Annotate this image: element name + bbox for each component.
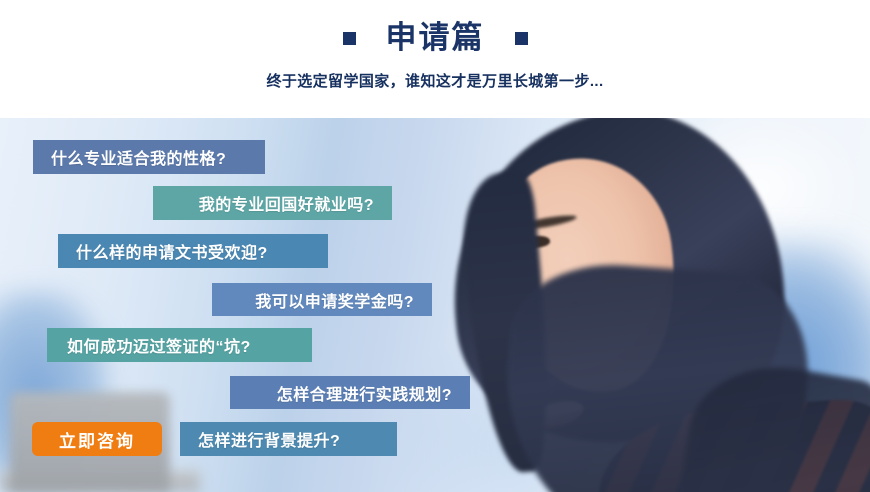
page-title: 申请篇 (386, 20, 485, 56)
square-bullet-right-icon (515, 32, 528, 45)
question-badge-label: 怎样合理进行实践规划? (277, 381, 452, 405)
question-badge[interactable]: 什么专业适合我的性格? (33, 140, 265, 174)
question-badge-label: 什么专业适合我的性格? (51, 145, 226, 169)
question-badge[interactable]: 怎样进行背景提升? (180, 422, 397, 456)
square-bullet-left-icon (343, 32, 356, 45)
hero-section: 什么专业适合我的性格?我的专业回国好就业吗?什么样的申请文书受欢迎?我可以申请奖… (0, 118, 870, 492)
page-subtitle: 终于选定留学国家，谁知这才是万里长城第一步... (0, 70, 870, 91)
question-badge-label: 什么样的申请文书受欢迎? (76, 239, 268, 263)
question-badge[interactable]: 我的专业回国好就业吗? (153, 186, 392, 220)
consult-now-button[interactable]: 立即咨询 (32, 422, 162, 456)
question-badge-label: 如何成功迈过签证的“坑? (67, 333, 251, 357)
question-badge[interactable]: 什么样的申请文书受欢迎? (58, 234, 328, 268)
question-badge[interactable]: 我可以申请奖学金吗? (212, 283, 432, 316)
title-row: 申请篇 (0, 20, 870, 56)
question-badge[interactable]: 怎样合理进行实践规划? (230, 376, 470, 409)
question-badge-label: 我的专业回国好就业吗? (199, 191, 374, 215)
question-badge-label: 我可以申请奖学金吗? (255, 288, 414, 312)
question-badge[interactable]: 如何成功迈过签证的“坑? (47, 328, 312, 362)
question-badge-label: 怎样进行背景提升? (198, 427, 340, 451)
header: 申请篇 终于选定留学国家，谁知这才是万里长城第一步... (0, 0, 870, 118)
promo-banner: 申请篇 终于选定留学国家，谁知这才是万里长城第一步... 什么专业适合我的性格?… (0, 0, 870, 492)
